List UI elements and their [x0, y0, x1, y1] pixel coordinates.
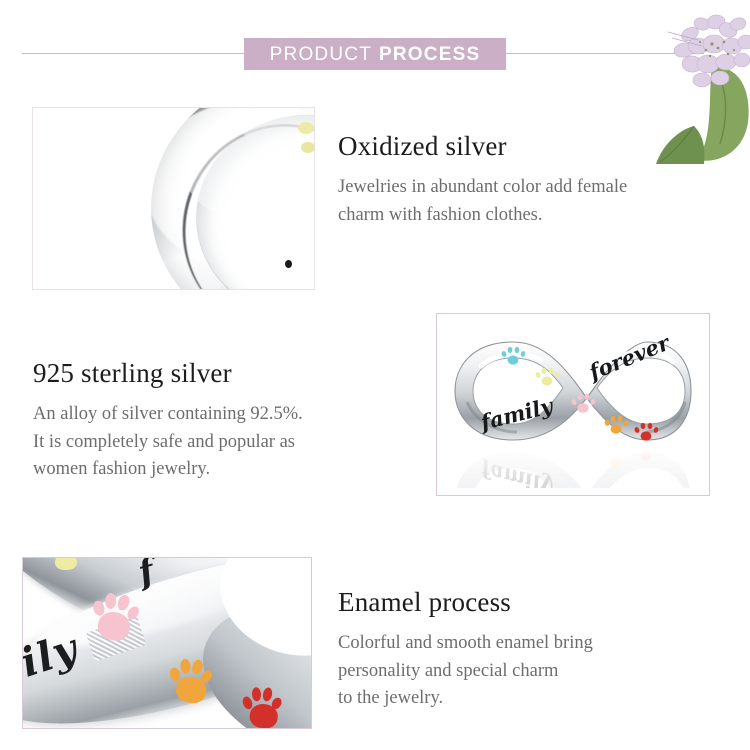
infinity-charm: family forever [451, 332, 697, 450]
text-block-oxidized-silver: Oxidized silver Jewelries in abundant co… [338, 130, 718, 229]
body-line: women fashion jewelry. [33, 456, 393, 484]
heading-oxidized-silver: Oxidized silver [338, 130, 718, 164]
infinity-charm-shot: family forever [437, 314, 709, 495]
product-photo-infinity-charm: family forever [436, 313, 710, 496]
body-sterling-silver: An alloy of silver containing 92.5%. It … [33, 401, 393, 484]
paw-print-yellow-partial [298, 122, 314, 134]
heading-sterling-silver: 925 sterling silver [33, 357, 393, 391]
charm-reflection: family [451, 442, 697, 488]
body-line: Jewelries in abundant color add female [338, 174, 718, 202]
enamel-macro-shot: ily f [23, 558, 311, 728]
product-photo-oxidized-silver [32, 107, 315, 290]
product-photo-enamel-macro: ily f [22, 557, 312, 729]
text-block-enamel-process: Enamel process Colorful and smooth ename… [338, 586, 708, 713]
body-line: It is completely safe and popular as [33, 429, 393, 457]
body-oxidized-silver: Jewelries in abundant color add female c… [338, 174, 718, 230]
banner-word-product: PRODUCT [270, 45, 372, 64]
header-rule-left [22, 53, 246, 54]
body-line: Colorful and smooth enamel bring [338, 630, 708, 658]
heading-enamel-process: Enamel process [338, 586, 708, 620]
product-process-infographic: PRODUCT PROCESS [0, 0, 750, 750]
body-line: charm with fashion clothes. [338, 202, 718, 230]
body-enamel-process: Colorful and smooth enamel bring persona… [338, 630, 708, 713]
paw-print-yellow-toe [301, 142, 314, 153]
body-line: personality and special charm [338, 658, 708, 686]
body-line: An alloy of silver containing 92.5%. [33, 401, 393, 429]
ring-macro-shot [33, 108, 314, 289]
ring-engraving-dot [285, 260, 292, 268]
text-block-sterling-silver: 925 sterling silver An alloy of silver c… [33, 357, 393, 484]
section-title-banner: PRODUCT PROCESS [244, 38, 506, 70]
body-line: to the jewelry. [338, 685, 708, 713]
header: PRODUCT PROCESS [0, 0, 750, 100]
banner-word-process: PROCESS [379, 45, 480, 64]
header-rule-right [504, 53, 704, 54]
